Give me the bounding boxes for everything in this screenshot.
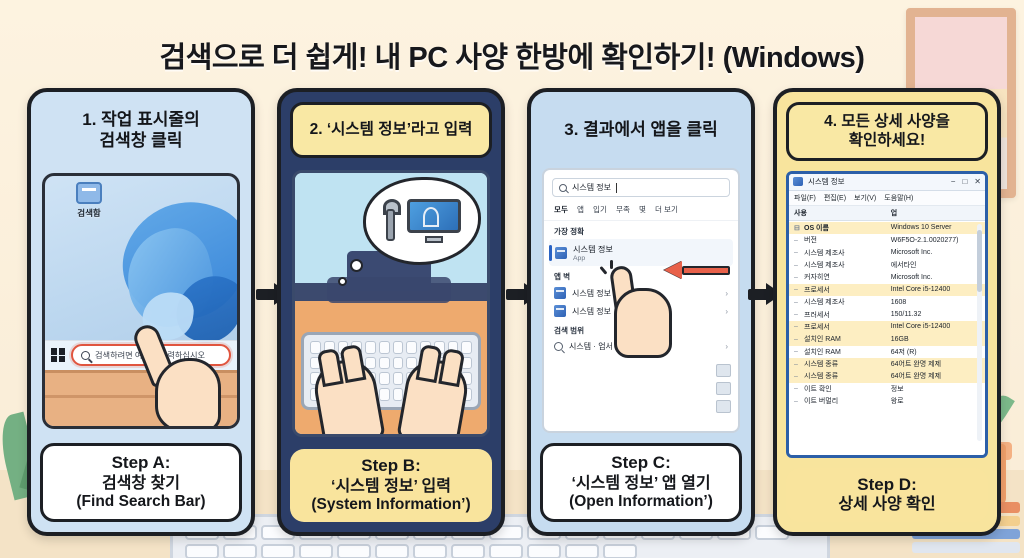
window-menubar[interactable]: 파일(F) 편집(E) 보기(V) 도움말(H)	[789, 191, 985, 206]
step-panel-a: 1. 작업 표시줄의 검색창 클릭 검색함 검색하려면 여기에 입력하	[27, 88, 255, 536]
step-b-caption: Step B: ‘시스템 정보’ 입력 (System Information’…	[290, 449, 492, 522]
tree-branch-icon: –	[794, 336, 801, 343]
search-icon	[81, 351, 90, 360]
table-cell-value: 16GB	[891, 336, 980, 343]
table-cell-value: 1608	[891, 299, 980, 306]
tree-branch-icon: –	[794, 299, 801, 306]
table-cell-key: –이트 확인	[794, 384, 891, 394]
step-c-caption-line2: ‘시스템 정보’ 앱 열기	[547, 474, 735, 494]
bubble-dot-large	[350, 259, 363, 272]
chevron-right-icon[interactable]: ›	[725, 307, 728, 316]
table-cell-key: –프러세서	[794, 310, 891, 320]
step-d-caption-line1: Step D:	[790, 475, 984, 496]
table-row[interactable]: –시스템 종류64어트 완명 제제	[789, 370, 985, 382]
tree-branch-icon: –	[794, 348, 801, 355]
table-row[interactable]: –시스템 제조사1608	[789, 296, 985, 308]
system-info-table[interactable]: ⊟OS 이름Windows 10 Server–버전W6F5O-2.1.0020…	[789, 221, 985, 455]
tree-branch-icon: –	[794, 249, 801, 256]
table-cell-value: 정보	[891, 384, 980, 394]
table-cell-key-label: 시스템 종류	[804, 359, 838, 369]
table-row[interactable]: –시스템 제조사에서타인	[789, 259, 985, 271]
step-b-illustration	[290, 164, 492, 443]
table-cell-key-label: 프로세서	[804, 322, 830, 332]
step-c-illustration: 시스템 정보 모두 앱 입기 무족 몇 더 보기 가장 정확 시스템 정보 A	[540, 164, 742, 437]
best-match-title: 시스템 정보	[573, 243, 613, 255]
menu-view[interactable]: 보기(V)	[854, 193, 876, 203]
chevron-right-icon[interactable]: ›	[725, 342, 728, 351]
table-cell-key: –프로세서	[794, 322, 891, 332]
table-cell-value: Microsoft Inc.	[891, 249, 980, 256]
step-b-caption-line3: (System Information’)	[294, 496, 488, 515]
section-best-match-label: 가장 정확	[544, 221, 738, 239]
table-row[interactable]: –설치인 RAM16GB	[789, 333, 985, 345]
window-title: 시스템 정보	[808, 176, 845, 187]
table-cell-key: ⊟OS 이름	[794, 223, 891, 233]
step-panel-d: 4. 모든 상세 사양을 확인하세요! 시스템 정보 − □ ✕ 파일(F) 편…	[773, 88, 1001, 536]
steps-container: 1. 작업 표시줄의 검색창 클릭 검색함 검색하려면 여기에 입력하	[0, 88, 1024, 538]
folder-icon	[76, 182, 102, 204]
table-cell-value: Intel Core i5-12400	[891, 323, 980, 330]
start-menu-side-icons	[710, 364, 736, 413]
menu-edit[interactable]: 편집(E)	[824, 193, 846, 203]
table-row[interactable]: –이트 버멀리왕로	[789, 395, 985, 407]
text-caret	[616, 183, 617, 193]
windows-start-icon[interactable]	[51, 348, 65, 362]
table-cell-key: –시스템 제조사	[794, 297, 891, 307]
chevron-right-icon[interactable]: ›	[725, 289, 728, 298]
step-c-caption-line3: (Open Information’)	[547, 493, 735, 512]
step-b-heading-line1: 2. ‘시스템 정보’라고 입력	[310, 120, 473, 139]
tab-apps[interactable]: 앱	[577, 204, 584, 215]
table-cell-key-label: OS 이름	[804, 223, 829, 233]
step-c-heading-line1: 3. 결과에서 앱을 클릭	[564, 119, 717, 140]
panel-icon	[716, 364, 731, 377]
table-cell-key: –이트 버멀리	[794, 396, 891, 406]
step-a-heading-line2: 검색창 클릭	[82, 130, 199, 151]
table-cell-key-label: 버전	[804, 235, 817, 245]
tree-branch-icon: –	[794, 286, 801, 293]
table-cell-value: 150/11.32	[891, 311, 980, 318]
tab-more[interactable]: 몇	[639, 204, 646, 215]
step-d-heading: 4. 모든 상세 사양을 확인하세요!	[786, 102, 988, 161]
step-a-illustration: 검색함 검색하려면 여기에 입력하십시오	[40, 165, 242, 437]
table-cell-key: –프로세서	[794, 285, 891, 295]
step-a-caption: Step A: 검색창 찾기 (Find Search Bar)	[40, 443, 242, 522]
table-cell-key: –시스템 종류	[794, 359, 891, 369]
step-b-caption-line1: Step B:	[294, 456, 488, 477]
tab-all[interactable]: 모두	[554, 204, 568, 215]
system-information-window: 시스템 정보 − □ ✕ 파일(F) 편집(E) 보기(V) 도움말(H) 사용…	[786, 171, 988, 458]
close-button[interactable]: ✕	[974, 177, 981, 186]
table-header: 사용 업	[789, 206, 985, 221]
table-cell-key-label: 설치인 RAM	[804, 334, 841, 344]
panel-icon	[716, 382, 731, 395]
table-cell-key-label: 시스템 종류	[804, 371, 838, 381]
table-cell-key-label: 프러세서	[804, 310, 830, 320]
system-information-icon	[554, 287, 566, 299]
tree-branch-icon: –	[794, 274, 801, 281]
step-a-caption-line2: 검색창 찾기	[47, 474, 235, 494]
tab-documents[interactable]: 입기	[593, 204, 607, 215]
desktop-shortcut[interactable]: 검색함	[63, 182, 115, 219]
desktop-shortcut-label: 검색함	[63, 207, 115, 219]
table-row[interactable]: ⊟OS 이름Windows 10 Server	[789, 222, 985, 234]
step-panel-c: 3. 결과에서 앱을 클릭 시스템 정보 모두 앱 입기 무족 몇 더 보기 가…	[527, 88, 755, 536]
table-cell-key-label: 설치인 RAM	[804, 347, 841, 357]
table-cell-key-label: 프로세서	[804, 285, 830, 295]
tree-branch-icon: –	[794, 237, 801, 244]
table-row[interactable]: –커자히연Microsoft Inc.	[789, 271, 985, 283]
table-cell-value: 64어트 완명 제제	[891, 359, 980, 369]
step-d-heading-line2: 확인하세요!	[824, 131, 950, 150]
typing-hands-icon	[295, 356, 487, 437]
column-header-value: 업	[891, 208, 980, 218]
tree-branch-icon: –	[794, 373, 801, 380]
table-cell-key-label: 이트 버멀리	[804, 396, 838, 406]
step-panel-b: 2. ‘시스템 정보’라고 입력	[277, 88, 505, 536]
tree-branch-icon: –	[794, 398, 801, 405]
tab-more-chevron[interactable]: 더 보기	[655, 204, 678, 215]
pointing-hand-icon	[135, 322, 221, 429]
monitor-icon	[407, 199, 461, 243]
start-menu-search-value: 시스템 정보	[572, 182, 611, 193]
table-cell-key: –커자히연	[794, 272, 891, 282]
menu-help[interactable]: 도움말(H)	[884, 193, 913, 203]
table-cell-key: –시스템 제조사	[794, 260, 891, 270]
table-cell-key-label: 시스템 제조사	[804, 248, 845, 258]
table-cell-value: W6F5O-2.1.0020277)	[891, 237, 980, 244]
table-cell-key: –설치인 RAM	[794, 347, 891, 357]
tree-branch-icon: –	[794, 385, 801, 392]
table-cell-key: –시스템 제조사	[794, 248, 891, 258]
minimize-button[interactable]: −	[951, 177, 956, 186]
table-row[interactable]: –프러세서150/11.32	[789, 308, 985, 320]
tree-expander-icon[interactable]: ⊟	[794, 224, 801, 232]
system-information-icon	[554, 305, 566, 317]
step-c-caption: Step C: ‘시스템 정보’ 앱 열기 (Open Information’…	[540, 443, 742, 522]
search-icon	[559, 184, 567, 192]
windows-desktop-mock: 검색함 검색하려면 여기에 입력하십시오	[42, 173, 240, 429]
table-cell-key-label: 이트 확인	[804, 384, 832, 394]
step-c-caption-line1: Step C:	[547, 453, 735, 474]
panel-icon	[716, 400, 731, 413]
table-cell-value: 왕로	[891, 396, 980, 406]
step-d-caption: Step D: 상세 사양 확인	[786, 468, 988, 522]
window-titlebar: 시스템 정보 − □ ✕	[789, 174, 985, 191]
step-c-heading: 3. 결과에서 앱을 클릭	[540, 102, 742, 158]
step-a-caption-line3: (Find Search Bar)	[47, 493, 235, 512]
table-cell-key-label: 커자히연	[804, 272, 830, 282]
bubble-dot-small	[338, 277, 347, 286]
table-row[interactable]: –프로세서Intel Core i5-12400	[789, 321, 985, 333]
table-row[interactable]: –시스템 제조사Microsoft Inc.	[789, 247, 985, 259]
table-row[interactable]: –설치인 RAM64저 (R)	[789, 346, 985, 358]
typing-scene	[292, 170, 490, 437]
tab-web[interactable]: 무족	[616, 204, 630, 215]
step-a-heading-line1: 1. 작업 표시줄의	[82, 109, 199, 130]
step-d-illustration: 시스템 정보 − □ ✕ 파일(F) 편집(E) 보기(V) 도움말(H) 사용…	[786, 167, 988, 462]
clicking-hand-icon	[606, 266, 680, 362]
table-cell-value: 64저 (R)	[891, 347, 980, 357]
step-d-heading-line1: 4. 모든 상세 사양을	[824, 112, 950, 131]
start-menu-search-input[interactable]: 시스템 정보	[552, 178, 730, 197]
table-cell-key-label: 시스템 제조사	[804, 297, 845, 307]
system-information-icon	[793, 177, 803, 186]
step-b-caption-line2: ‘시스템 정보’ 입력	[294, 477, 488, 497]
search-icon	[554, 342, 563, 351]
tree-branch-icon: –	[794, 361, 801, 368]
table-cell-key: –버전	[794, 235, 891, 245]
tree-branch-icon: –	[794, 323, 801, 330]
menu-file[interactable]: 파일(F)	[794, 193, 816, 203]
system-information-icon	[555, 247, 567, 259]
table-cell-value: 에서타인	[891, 260, 980, 270]
table-cell-value: Windows 10 Server	[891, 224, 980, 231]
table-cell-value: 64어트 완명 제제	[891, 371, 980, 381]
tree-branch-icon: –	[794, 311, 801, 318]
tree-branch-icon: –	[794, 262, 801, 269]
step-a-caption-line1: Step A:	[47, 453, 235, 474]
maximize-button[interactable]: □	[962, 177, 967, 186]
step-d-caption-line2: 상세 사양 확인	[790, 495, 984, 515]
start-menu-filter-tabs[interactable]: 모두 앱 입기 무족 몇 더 보기	[544, 201, 738, 221]
table-row[interactable]: –버전W6F5O-2.1.0020277)	[789, 234, 985, 246]
table-cell-key-label: 시스템 제조사	[804, 260, 845, 270]
table-row[interactable]: –시스템 종류64어트 완명 제제	[789, 358, 985, 370]
start-menu-mock: 시스템 정보 모두 앱 입기 무족 몇 더 보기 가장 정확 시스템 정보 A	[542, 168, 740, 433]
table-cell-key: –시스템 종류	[794, 371, 891, 381]
vertical-scrollbar[interactable]	[977, 224, 982, 441]
table-cell-value: Microsoft Inc.	[891, 274, 980, 281]
page-title: 검색으로 더 쉽게! 내 PC 사양 한방에 확인하기! (Windows)	[0, 34, 1024, 76]
table-cell-value: Intel Core i5-12400	[891, 286, 980, 293]
step-b-heading: 2. ‘시스템 정보’라고 입력	[290, 102, 492, 158]
column-header-item: 사용	[794, 208, 891, 218]
step-a-heading: 1. 작업 표시줄의 검색창 클릭	[40, 102, 242, 159]
wrench-icon	[383, 199, 401, 243]
table-cell-key: –설치인 RAM	[794, 334, 891, 344]
table-row[interactable]: –프로세서Intel Core i5-12400	[789, 284, 985, 296]
table-row[interactable]: –이트 확인정보	[789, 383, 985, 395]
